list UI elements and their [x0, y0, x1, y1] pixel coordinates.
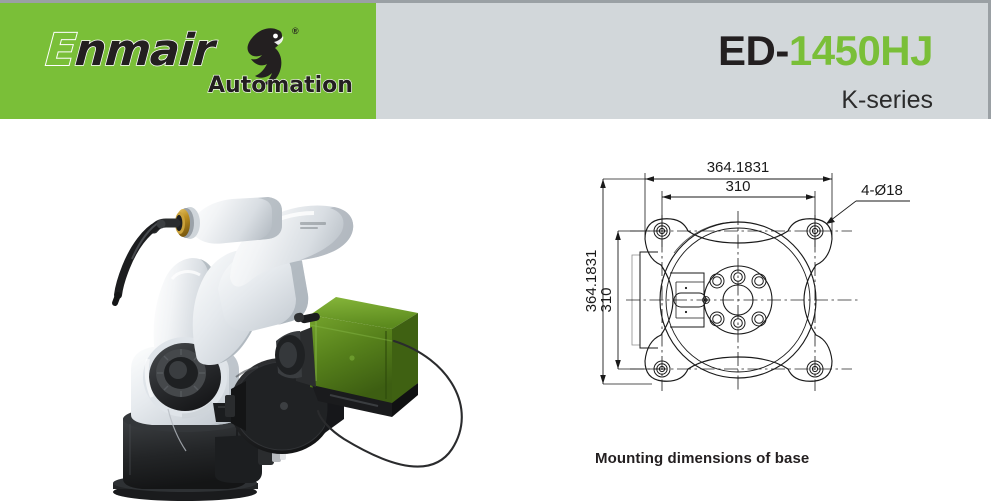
brand-wordmark-initial: E — [44, 25, 77, 76]
base-mounting-drawing: 364.1831 310 364.1831 310 4-Ø18 — [570, 119, 991, 501]
dim-outer-width: 364.1831 — [707, 159, 770, 176]
brand-wordmark-rest: nmair — [73, 25, 215, 76]
drawing-svg: 364.1831 310 364.1831 310 4-Ø18 — [570, 119, 991, 501]
product-photo — [0, 119, 570, 501]
dim-hole-callout: 4-Ø18 — [861, 182, 903, 199]
brand-wordmark: Enmair — [44, 28, 215, 74]
series-name: K-series — [841, 86, 933, 114]
model-code: 1450HJ — [789, 27, 933, 74]
dim-bolt-span-horizontal: 310 — [725, 178, 750, 195]
brand-logo[interactable]: Enmair ® Automation — [46, 28, 346, 100]
drawing-caption: Mounting dimensions of base — [595, 450, 809, 467]
model-prefix: ED- — [718, 27, 789, 74]
robot-arm-illustration — [0, 119, 570, 501]
dim-bolt-span-vertical: 310 — [598, 287, 615, 312]
brand-tagline: Automation — [208, 73, 353, 98]
model-number: ED-1450HJ — [718, 29, 933, 73]
registered-trademark-icon: ® — [292, 26, 299, 36]
page-header: Enmair ® Automation ED-1450HJ K-series — [0, 0, 991, 119]
